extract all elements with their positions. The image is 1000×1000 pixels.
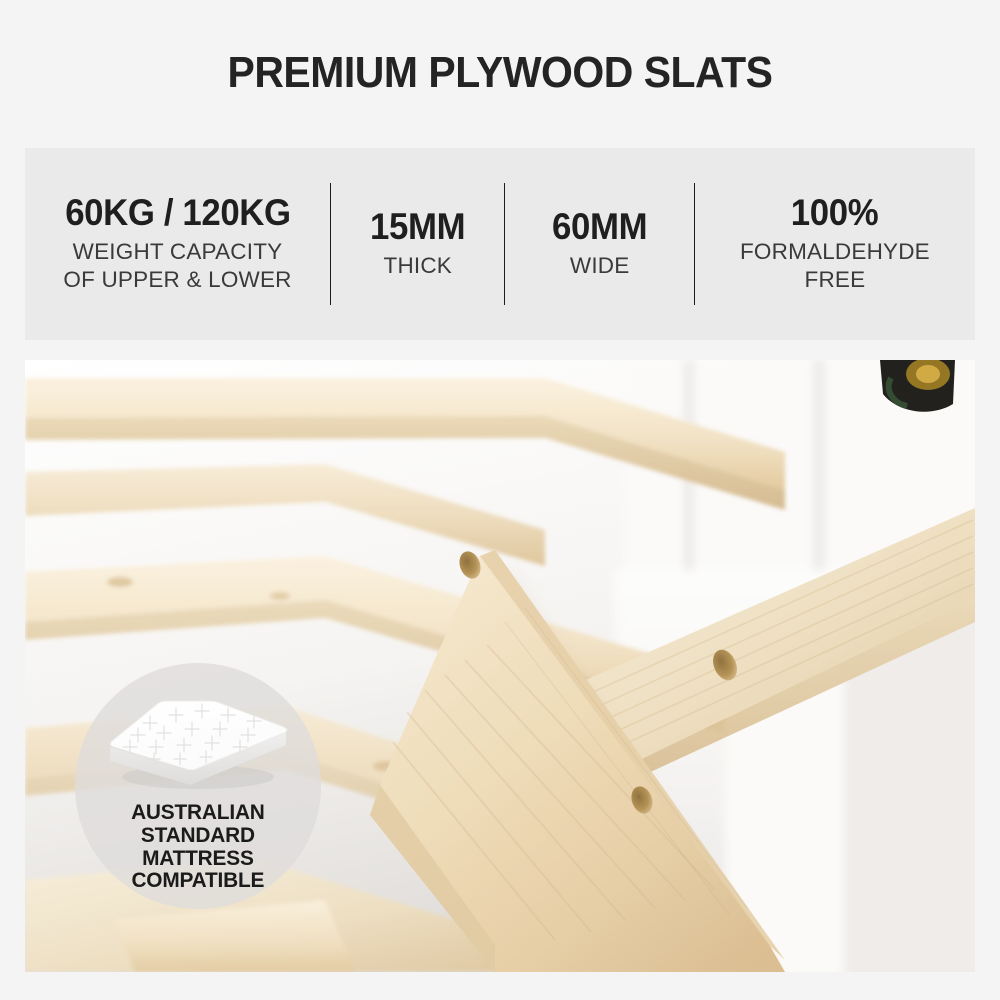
- badge-text: AUSTRALIAN STANDARD MATTRESS COMPATIBLE: [131, 801, 265, 892]
- spec-item-weight-capacity: 60KG / 120KG WEIGHT CAPACITY OF UPPER & …: [25, 148, 330, 340]
- spec-item-width: 60MM WIDE: [505, 148, 693, 340]
- infographic-page: PREMIUM PLYWOOD SLATS 60KG / 120KG WEIGH…: [0, 0, 1000, 1000]
- spec-sublabel: WIDE: [570, 252, 630, 280]
- spec-sublabel: WEIGHT CAPACITY OF UPPER & LOWER: [63, 238, 291, 295]
- spec-sublabel: FORMALDEHYDE FREE: [740, 238, 930, 295]
- spec-item-formaldehyde-free: 100% FORMALDEHYDE FREE: [695, 148, 975, 340]
- spec-bar: 60KG / 120KG WEIGHT CAPACITY OF UPPER & …: [25, 148, 975, 340]
- spec-value: 100%: [791, 194, 878, 233]
- badge-text-line: AUSTRALIAN: [131, 801, 265, 824]
- spec-sublabel-line: OF UPPER & LOWER: [63, 266, 291, 294]
- badge-text-line: MATTRESS: [131, 847, 265, 870]
- badge-text-line: COMPATIBLE: [131, 869, 265, 892]
- spec-sublabel-line: WEIGHT CAPACITY: [63, 238, 291, 266]
- spec-sublabel: THICK: [384, 252, 453, 280]
- spec-value: 60MM: [552, 208, 647, 247]
- spec-sublabel-line: FREE: [740, 266, 930, 294]
- page-title: PREMIUM PLYWOOD SLATS: [35, 48, 965, 98]
- mattress-compatible-badge: AUSTRALIAN STANDARD MATTRESS COMPATIBLE: [75, 663, 321, 909]
- spec-item-thickness: 15MM THICK: [331, 148, 504, 340]
- spec-value: 15MM: [370, 208, 465, 247]
- spec-sublabel-line: THICK: [384, 252, 453, 280]
- mattress-icon: [98, 685, 298, 795]
- badge-text-line: STANDARD: [131, 824, 265, 847]
- spec-sublabel-line: FORMALDEHYDE: [740, 238, 930, 266]
- spec-value: 60KG / 120KG: [65, 194, 291, 233]
- spec-sublabel-line: WIDE: [570, 252, 630, 280]
